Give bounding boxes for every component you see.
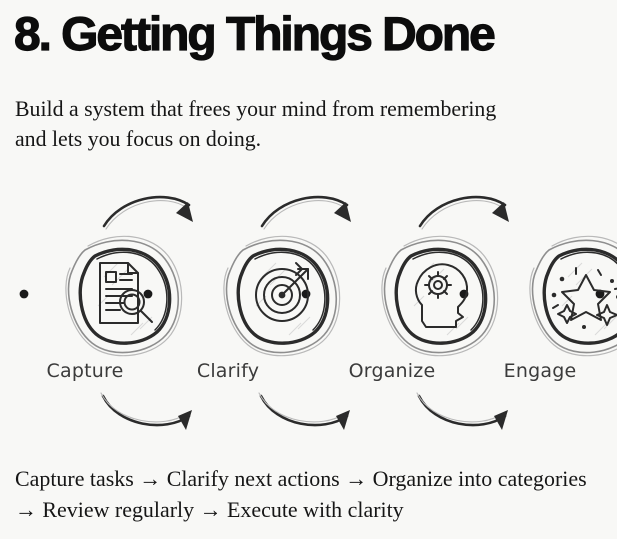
step-circle-clarify[interactable] (224, 236, 340, 355)
top-arrow-capture-to-clarify (104, 197, 193, 229)
step-circle-engage[interactable] (530, 236, 617, 355)
sparkle-stars-icon (552, 268, 617, 329)
step-label-clarify: Clarify (148, 360, 308, 382)
target-arrow-icon (256, 263, 308, 321)
slide-canvas: 8. Getting Things Done Build a system th… (0, 0, 617, 539)
process-summary-text: Capture tasks → Clarify next actions → O… (15, 463, 600, 525)
connector-dot (144, 290, 153, 299)
step-label-engage: Engage (460, 360, 617, 382)
bottom-arrow-organize-to-engage (417, 393, 508, 430)
step-circle-organize[interactable] (382, 236, 498, 355)
step-circle-capture[interactable] (20, 236, 182, 355)
page-subtitle: Build a system that frees your mind from… (15, 94, 519, 154)
top-arrow-clarify-to-organize (262, 197, 351, 229)
top-arrow-organize-to-engage (420, 197, 509, 229)
step-label-organize: Organize (312, 360, 472, 382)
connector-dot (20, 290, 29, 299)
bottom-arrow-capture-to-clarify (101, 393, 192, 430)
connector-dot (302, 290, 311, 299)
bottom-arrow-clarify-to-organize (259, 393, 350, 430)
step-label-capture: Capture (5, 360, 165, 382)
process-flow-diagram (0, 185, 617, 450)
page-title: 8. Getting Things Done (14, 6, 617, 62)
head-gear-icon (416, 264, 467, 327)
